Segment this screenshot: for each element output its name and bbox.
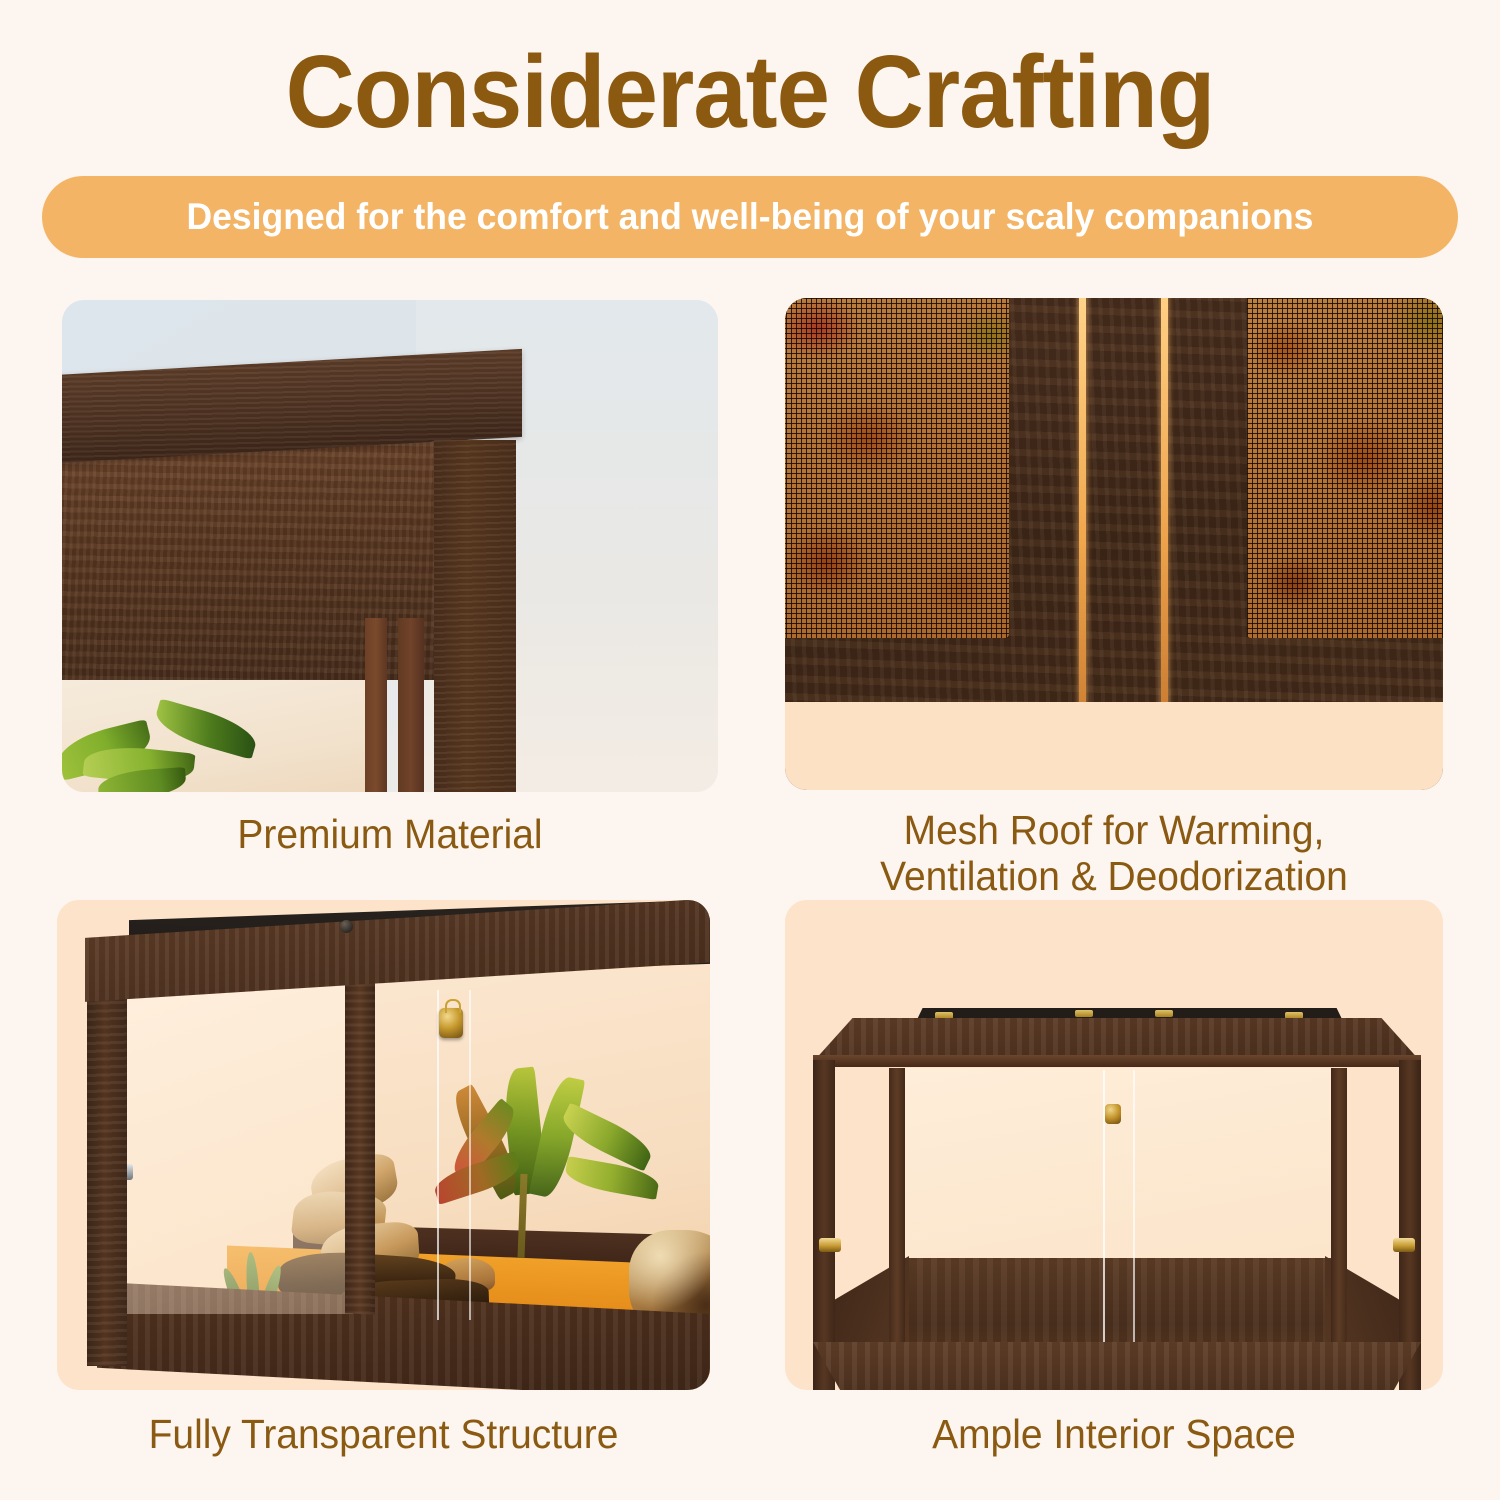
wood-right-post xyxy=(1399,1060,1421,1390)
caption-line-1: Mesh Roof for Warming, xyxy=(801,808,1426,854)
glass-door-seam xyxy=(1133,1070,1135,1368)
feature-image-mesh-roof xyxy=(785,298,1443,790)
caption-mesh-roof: Mesh Roof for Warming, Ventilation & Deo… xyxy=(801,808,1426,900)
glass-door-left[interactable] xyxy=(125,984,353,1314)
brass-lock-icon[interactable] xyxy=(439,1008,463,1038)
caption-line-2: Ventilation & Deodorization xyxy=(801,854,1426,900)
subtitle-banner: Designed for the comfort and well-being … xyxy=(42,176,1458,258)
feature-image-transparent-structure xyxy=(57,900,710,1390)
glass-door-seam xyxy=(437,990,439,1320)
wood-top-edge xyxy=(813,1055,1421,1067)
subtitle-text: Designed for the comfort and well-being … xyxy=(187,196,1314,238)
caption-transparent-structure: Fully Transparent Structure xyxy=(73,1412,693,1458)
wood-inner-post-right xyxy=(1331,1068,1347,1368)
wood-front-rail xyxy=(813,1342,1421,1390)
mesh-screen-panel-left xyxy=(785,298,1009,638)
wood-left-post xyxy=(813,1060,835,1390)
page-title: Considerate Crafting xyxy=(53,34,1448,149)
feature-image-premium-material xyxy=(62,300,718,792)
light-seam-vertical xyxy=(1161,298,1168,744)
hinge-icon xyxy=(1285,1012,1303,1019)
mesh-underlying-scene xyxy=(785,298,1009,638)
door-knob-right[interactable] xyxy=(1393,1238,1415,1252)
hinge-icon xyxy=(935,1012,953,1019)
glass-door-seam xyxy=(469,990,471,1320)
wood-inner-post-left xyxy=(889,1068,905,1368)
screw-icon xyxy=(340,920,353,933)
plant-stem xyxy=(518,1174,528,1258)
caption-ample-interior-space: Ample Interior Space xyxy=(801,1412,1426,1458)
wood-inner-post xyxy=(365,618,387,792)
door-knob-center[interactable] xyxy=(1105,1104,1121,1124)
wood-corner-post xyxy=(434,440,516,792)
hinge-icon xyxy=(1075,1010,1093,1017)
hinge-icon xyxy=(1155,1010,1173,1017)
light-seam-vertical xyxy=(1079,298,1086,744)
wood-mid-post xyxy=(345,975,375,1314)
door-knob-left[interactable] xyxy=(819,1238,841,1252)
feature-image-ample-interior-space xyxy=(785,900,1443,1390)
caption-premium-material: Premium Material xyxy=(78,812,701,858)
decor-croton-plant xyxy=(455,1068,665,1278)
mesh-underlying-scene xyxy=(1247,298,1443,638)
panel-bottom-strip xyxy=(785,702,1443,790)
wood-inner-post xyxy=(398,618,424,792)
mesh-screen-panel-right xyxy=(1247,298,1443,638)
wood-left-post xyxy=(87,938,127,1366)
